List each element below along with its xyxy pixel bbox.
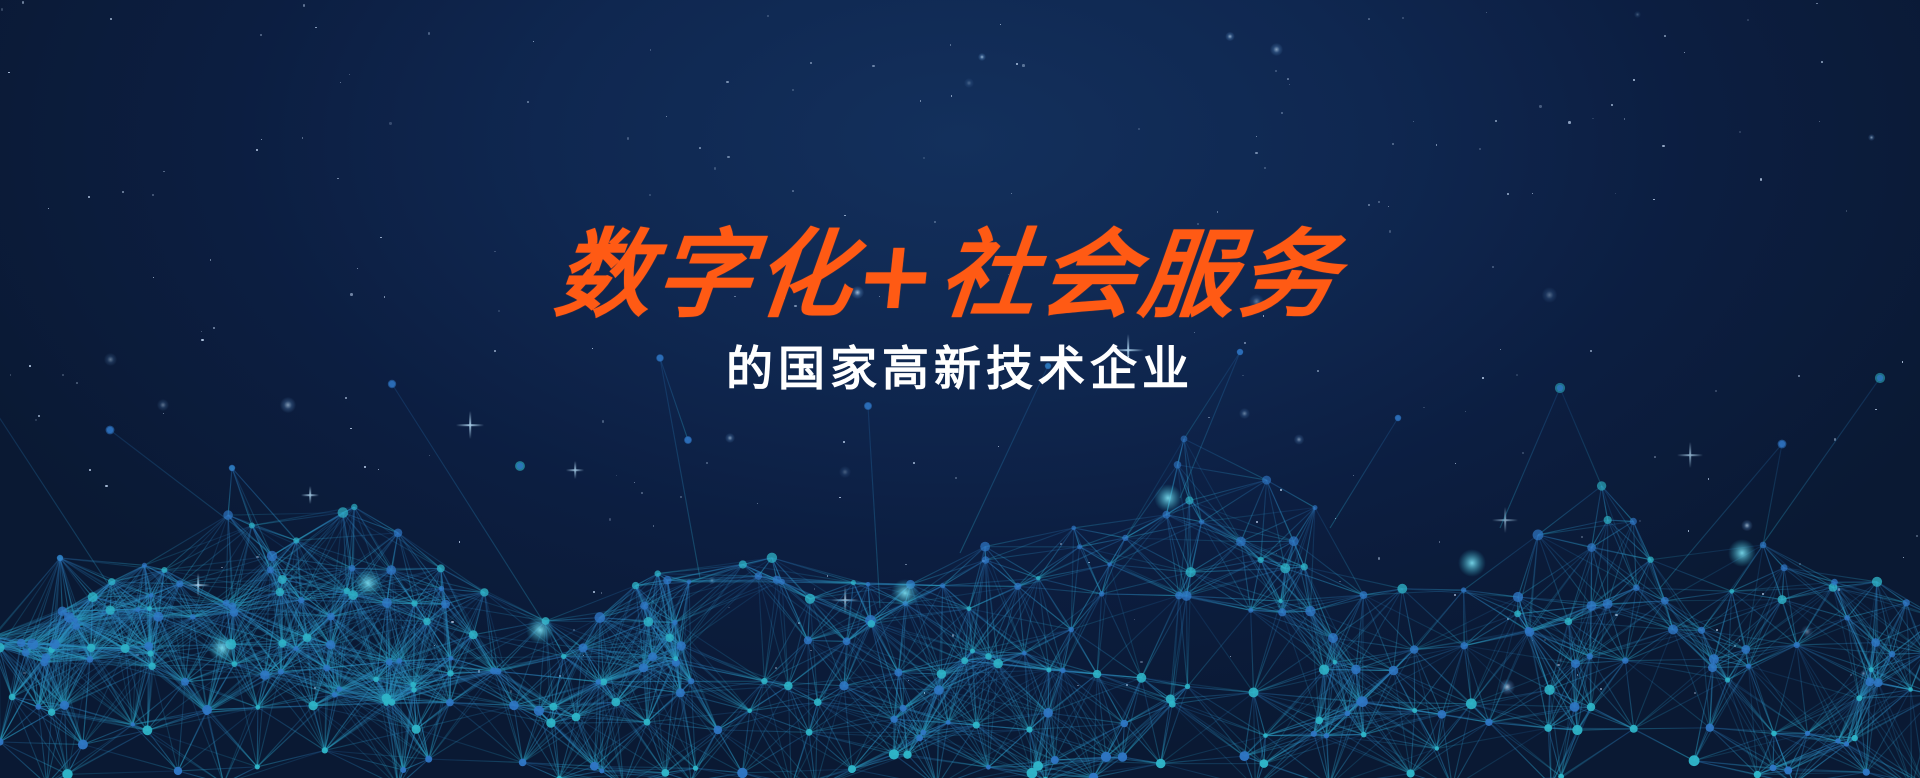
- mesh-node: [693, 766, 698, 771]
- mesh-node: [1182, 591, 1192, 601]
- star-glow: [1270, 43, 1283, 56]
- star-dot: [734, 296, 735, 297]
- star-dot: [1378, 201, 1380, 203]
- mesh-node: [889, 749, 899, 759]
- mesh-node: [223, 510, 233, 520]
- mesh-node: [1706, 724, 1714, 732]
- mesh-node: [1852, 735, 1858, 741]
- star-dot: [1008, 274, 1009, 275]
- mesh-node: [1313, 505, 1318, 510]
- mesh-node: [1844, 741, 1849, 746]
- mesh-node: [1301, 563, 1308, 570]
- mesh-node: [1093, 670, 1101, 678]
- mesh-node: [1036, 576, 1041, 581]
- star-dot: [792, 190, 794, 192]
- star-dot: [1819, 121, 1820, 122]
- star-dot: [527, 101, 529, 103]
- mesh-node: [446, 699, 454, 707]
- mesh-node: [1122, 535, 1128, 541]
- mesh-node: [1587, 543, 1596, 552]
- star-dot: [122, 191, 124, 193]
- mesh-node: [639, 663, 648, 672]
- star-dot: [428, 32, 431, 35]
- star-dot: [303, 4, 306, 7]
- star-dot: [1684, 52, 1686, 54]
- mesh-node: [599, 768, 604, 773]
- mesh-node: [982, 556, 989, 563]
- mesh-node: [1741, 645, 1750, 654]
- mesh-node: [1903, 599, 1910, 606]
- mesh-node: [866, 582, 871, 587]
- mesh-node: [181, 678, 189, 686]
- mesh-node: [386, 565, 396, 575]
- mesh-node: [323, 665, 330, 672]
- mesh-node: [747, 708, 752, 713]
- mesh-node: [546, 718, 555, 727]
- mesh-node: [1260, 759, 1269, 768]
- mesh-node: [1395, 415, 1401, 421]
- mesh-node: [1725, 677, 1730, 682]
- mesh-node: [1604, 516, 1612, 524]
- mesh-node: [767, 553, 777, 563]
- mesh-node: [1166, 694, 1175, 703]
- mesh-node: [1175, 592, 1183, 600]
- mesh-node: [255, 764, 260, 769]
- star-dot: [1747, 19, 1749, 21]
- mesh-node: [1874, 678, 1883, 687]
- star-dot: [699, 147, 701, 149]
- mesh-node: [1630, 518, 1637, 525]
- star-dot: [934, 221, 936, 223]
- mesh-node: [632, 582, 639, 589]
- mesh-node: [278, 639, 286, 647]
- star-dot: [22, 1, 24, 3]
- star-glow: [1542, 287, 1558, 303]
- mesh-node: [1513, 592, 1523, 602]
- star-dot: [1217, 211, 1218, 212]
- mesh-node: [1831, 579, 1838, 586]
- mesh-node: [1237, 349, 1243, 355]
- mesh-node: [149, 593, 154, 598]
- mesh-node: [260, 670, 270, 680]
- mesh-node: [534, 706, 544, 716]
- mesh-node: [58, 607, 67, 616]
- mesh-node: [595, 612, 606, 623]
- mesh-node: [1587, 703, 1595, 711]
- star-dot: [1739, 131, 1741, 133]
- mesh-node: [894, 669, 902, 677]
- star-dot: [389, 122, 391, 124]
- mesh-node: [1565, 618, 1573, 626]
- mesh-node: [176, 580, 183, 587]
- mesh-node: [1199, 519, 1204, 524]
- mesh-node: [1280, 563, 1290, 573]
- mesh-node: [661, 769, 669, 777]
- star-dot: [1289, 84, 1290, 85]
- mesh-node: [1311, 731, 1317, 737]
- mesh-node: [843, 637, 851, 645]
- mesh-node: [1485, 719, 1492, 726]
- star-dot: [872, 65, 874, 67]
- star-dot: [48, 208, 49, 209]
- star-glow: [964, 78, 974, 88]
- mesh-node: [1328, 633, 1338, 643]
- star-dot: [1495, 120, 1497, 122]
- mesh-node: [865, 403, 871, 409]
- mesh-node: [1587, 653, 1593, 659]
- mesh-node-glow: [526, 616, 554, 644]
- mesh-node: [640, 602, 648, 610]
- star-dot: [152, 194, 154, 196]
- star-dot: [1197, 223, 1199, 225]
- star-dot: [1413, 121, 1414, 122]
- mesh-node: [386, 659, 393, 666]
- mesh-node: [1278, 599, 1282, 603]
- mesh-node: [348, 590, 358, 600]
- star-glow: [978, 53, 986, 61]
- star-dot: [1664, 35, 1666, 37]
- mesh-node: [1794, 642, 1800, 648]
- mesh-node: [278, 669, 284, 675]
- mesh-node: [1022, 651, 1027, 656]
- mesh-node: [411, 600, 417, 606]
- mesh-node: [1689, 755, 1700, 766]
- mesh-node: [685, 437, 691, 443]
- mesh-node: [1236, 537, 1246, 547]
- mesh-node: [495, 668, 502, 675]
- mesh-node: [1571, 659, 1580, 668]
- star-dot: [1244, 342, 1245, 343]
- star-dot: [1287, 78, 1289, 80]
- mesh-node: [303, 633, 312, 642]
- mesh-node: [970, 649, 975, 654]
- mesh-node: [1805, 731, 1810, 736]
- mesh-node: [848, 765, 856, 773]
- mesh-node: [249, 523, 255, 529]
- mesh-node: [1770, 765, 1777, 772]
- mesh-node: [579, 643, 588, 652]
- mesh-node: [327, 613, 335, 621]
- mesh-node: [147, 606, 152, 611]
- mesh-node: [648, 652, 657, 661]
- mesh-node: [1278, 608, 1286, 616]
- star-dot: [775, 311, 778, 314]
- mesh-node: [739, 560, 747, 568]
- mesh-node: [687, 580, 692, 585]
- mesh-node: [1760, 542, 1767, 549]
- mesh-node: [1045, 363, 1051, 369]
- star-dot: [1436, 144, 1437, 145]
- mesh-node: [1185, 684, 1190, 689]
- star-dot: [1388, 206, 1389, 207]
- star-dot: [810, 62, 812, 64]
- mesh-node: [1778, 595, 1787, 604]
- star-dot: [380, 237, 381, 238]
- mesh-node: [1360, 591, 1368, 599]
- mesh-node: [135, 607, 140, 612]
- mesh-node: [677, 641, 686, 650]
- mesh-node: [87, 644, 95, 652]
- mesh-node: [326, 640, 335, 649]
- mesh-node: [255, 705, 260, 710]
- mesh-node: [62, 769, 72, 778]
- mesh-node: [1863, 769, 1870, 776]
- mesh-node: [267, 566, 274, 573]
- mesh-node: [934, 685, 944, 695]
- star-dot: [1101, 302, 1102, 303]
- network-mesh-graphic: [0, 348, 1920, 778]
- star-dot: [261, 139, 262, 140]
- mesh-node: [1137, 673, 1147, 683]
- mesh-node: [946, 720, 951, 725]
- mesh-node: [509, 701, 519, 711]
- mesh-node: [148, 663, 155, 670]
- mesh-node: [1026, 727, 1032, 733]
- mesh-node: [397, 658, 402, 663]
- banner-text-block: 数字化+社会服务 的国家高新技术企业: [0, 0, 1920, 396]
- mesh-node: [382, 598, 392, 608]
- mesh-node: [1248, 608, 1253, 613]
- star-dot: [627, 137, 630, 140]
- mesh-node: [672, 620, 677, 625]
- mesh-node: [298, 597, 304, 603]
- mesh-node: [480, 588, 488, 596]
- mesh-node: [600, 679, 607, 686]
- mesh-node: [437, 564, 445, 572]
- mesh-node: [469, 630, 478, 639]
- mesh-node: [1315, 717, 1323, 725]
- star-dot: [201, 339, 203, 341]
- mesh-node: [993, 659, 1003, 669]
- star-dot: [1846, 210, 1847, 211]
- star-dot: [1194, 332, 1195, 333]
- mesh-node: [519, 759, 527, 767]
- star-dot: [1486, 12, 1487, 13]
- mesh-node: [663, 576, 671, 584]
- mesh-node: [1389, 666, 1399, 676]
- mesh-node: [1587, 601, 1597, 611]
- star-glow: [1225, 32, 1234, 41]
- mesh-node: [1107, 562, 1112, 567]
- mesh-node: [229, 465, 235, 471]
- star-dot: [340, 82, 341, 83]
- mesh-node: [1043, 708, 1053, 718]
- mesh-node: [373, 677, 379, 683]
- mesh-node: [1156, 759, 1166, 769]
- mesh-node: [57, 555, 63, 561]
- mesh-node: [161, 567, 167, 573]
- mesh-node: [388, 699, 395, 706]
- star-dot: [1479, 148, 1481, 150]
- star-glow: [1634, 11, 1642, 19]
- mesh-node: [449, 656, 454, 661]
- mesh-node: [1361, 732, 1367, 738]
- star-dot: [1568, 121, 1571, 124]
- mesh-node: [384, 701, 389, 706]
- mesh-node: [1698, 627, 1705, 634]
- mesh-node: [1771, 731, 1777, 737]
- mesh-node: [411, 687, 416, 692]
- mesh-node: [60, 701, 69, 710]
- mesh-node: [1397, 584, 1407, 594]
- mesh-node: [174, 767, 182, 775]
- mesh-node: [1438, 710, 1447, 719]
- star-dot: [844, 215, 846, 217]
- star-dot: [213, 327, 216, 330]
- mesh-node: [1533, 530, 1544, 541]
- star-dot: [1760, 178, 1763, 181]
- star-dot: [951, 95, 953, 97]
- mesh-node: [665, 634, 673, 642]
- mesh-node: [1289, 536, 1299, 546]
- mesh-node: [1466, 698, 1477, 709]
- mesh-node: [851, 580, 856, 585]
- mesh-node: [1871, 638, 1880, 647]
- star-dot: [726, 81, 728, 83]
- mesh-node: [1865, 677, 1874, 686]
- star-dot: [714, 167, 716, 169]
- mesh-node: [916, 735, 923, 742]
- star-dot: [1662, 145, 1664, 147]
- mesh-node: [779, 579, 785, 585]
- star-dot: [616, 240, 618, 242]
- mesh-node: [806, 729, 813, 736]
- mesh-node: [232, 661, 238, 667]
- star-dot: [1275, 70, 1278, 73]
- star-dot: [1611, 104, 1613, 106]
- star-dot: [1264, 167, 1266, 169]
- star-dot: [767, 15, 769, 17]
- mesh-node: [1186, 567, 1196, 577]
- mesh-node: [1835, 738, 1840, 743]
- star-dot: [1633, 79, 1635, 81]
- mesh-node: [673, 656, 678, 661]
- mesh-node: [412, 725, 421, 734]
- mesh-node: [1014, 583, 1021, 590]
- mesh-node: [814, 698, 822, 706]
- mesh-node: [394, 529, 403, 538]
- mesh-node: [1249, 688, 1259, 698]
- mesh-node: [9, 694, 16, 701]
- mesh-node: [389, 381, 395, 387]
- mesh-node: [332, 692, 338, 698]
- mesh-node: [1877, 375, 1883, 381]
- mesh-node: [1754, 771, 1761, 778]
- mesh-node: [1071, 526, 1076, 531]
- mesh-node: [967, 606, 972, 611]
- mesh-node: [980, 542, 990, 552]
- mesh-node: [410, 682, 416, 688]
- star-dot: [384, 296, 386, 298]
- mesh-node: [267, 551, 277, 561]
- star-dot: [337, 178, 339, 180]
- mesh-node: [50, 639, 60, 649]
- mesh-node: [1345, 711, 1351, 717]
- star-dot: [1368, 18, 1370, 20]
- mesh-node: [1407, 769, 1415, 777]
- mesh-node: [755, 572, 763, 580]
- star-dot: [879, 296, 880, 297]
- mesh-node: [351, 504, 357, 510]
- star-dot: [1256, 136, 1258, 138]
- star-dot: [494, 251, 495, 252]
- mesh-node: [40, 658, 48, 666]
- mesh-node: [517, 463, 523, 469]
- mesh-node: [1060, 668, 1066, 674]
- mesh-node: [1051, 756, 1059, 764]
- mesh-node: [985, 653, 992, 660]
- star-dot: [1507, 193, 1509, 195]
- banner-headline: 数字化+社会服务: [0, 0, 1920, 326]
- mesh-node: [278, 575, 287, 584]
- mesh-node: [549, 703, 557, 711]
- mesh-node: [1844, 615, 1850, 621]
- mesh-node: [839, 681, 848, 690]
- mesh-node: [737, 768, 747, 778]
- star-dot: [1368, 204, 1370, 206]
- mesh-node: [1557, 385, 1563, 391]
- mesh-node: [1181, 436, 1188, 443]
- mesh-node: [147, 651, 153, 657]
- star-dot: [498, 310, 500, 312]
- star-dot: [792, 89, 794, 91]
- star-dot: [794, 305, 796, 307]
- star-dot: [1389, 230, 1392, 233]
- mesh-node: [293, 537, 299, 543]
- mesh-node: [1597, 481, 1606, 490]
- star-glow: [1249, 294, 1264, 309]
- star-dot: [1532, 193, 1533, 194]
- mesh-node: [107, 427, 113, 433]
- mesh-node: [1889, 651, 1895, 657]
- star-dot: [1263, 315, 1264, 316]
- mesh-node: [657, 355, 663, 361]
- star-dot: [163, 171, 164, 172]
- mesh-node: [439, 586, 444, 591]
- star-dot: [1492, 266, 1494, 268]
- mesh-node: [1461, 587, 1466, 592]
- star-dot: [1653, 199, 1654, 200]
- star-dot: [256, 149, 258, 151]
- star-dot: [1255, 152, 1257, 154]
- star-dot: [1138, 128, 1140, 130]
- mesh-node: [804, 636, 812, 644]
- mesh-node: [204, 710, 209, 715]
- mesh-node-glow: [1154, 484, 1182, 512]
- mesh-node: [940, 583, 945, 588]
- mesh-node: [1729, 589, 1734, 594]
- mesh-node: [805, 594, 815, 604]
- star-dot: [1615, 193, 1616, 194]
- mesh-node: [143, 725, 153, 735]
- mesh-node: [1708, 663, 1717, 672]
- mesh-node: [986, 765, 991, 770]
- mesh-node-glow: [1728, 539, 1756, 567]
- star-dot: [1821, 61, 1823, 63]
- mesh-node-glow: [891, 579, 919, 607]
- star-dot: [1392, 143, 1394, 145]
- mesh-node: [714, 726, 723, 735]
- mesh-node: [142, 563, 147, 568]
- mesh-node: [27, 639, 38, 650]
- mesh-node-glow: [208, 634, 236, 662]
- mesh-node: [611, 698, 620, 707]
- mesh-node: [1633, 584, 1640, 591]
- mesh-node: [1118, 752, 1127, 761]
- star-glow: [851, 286, 863, 298]
- mesh-node: [1746, 664, 1751, 669]
- mesh-node: [921, 730, 927, 736]
